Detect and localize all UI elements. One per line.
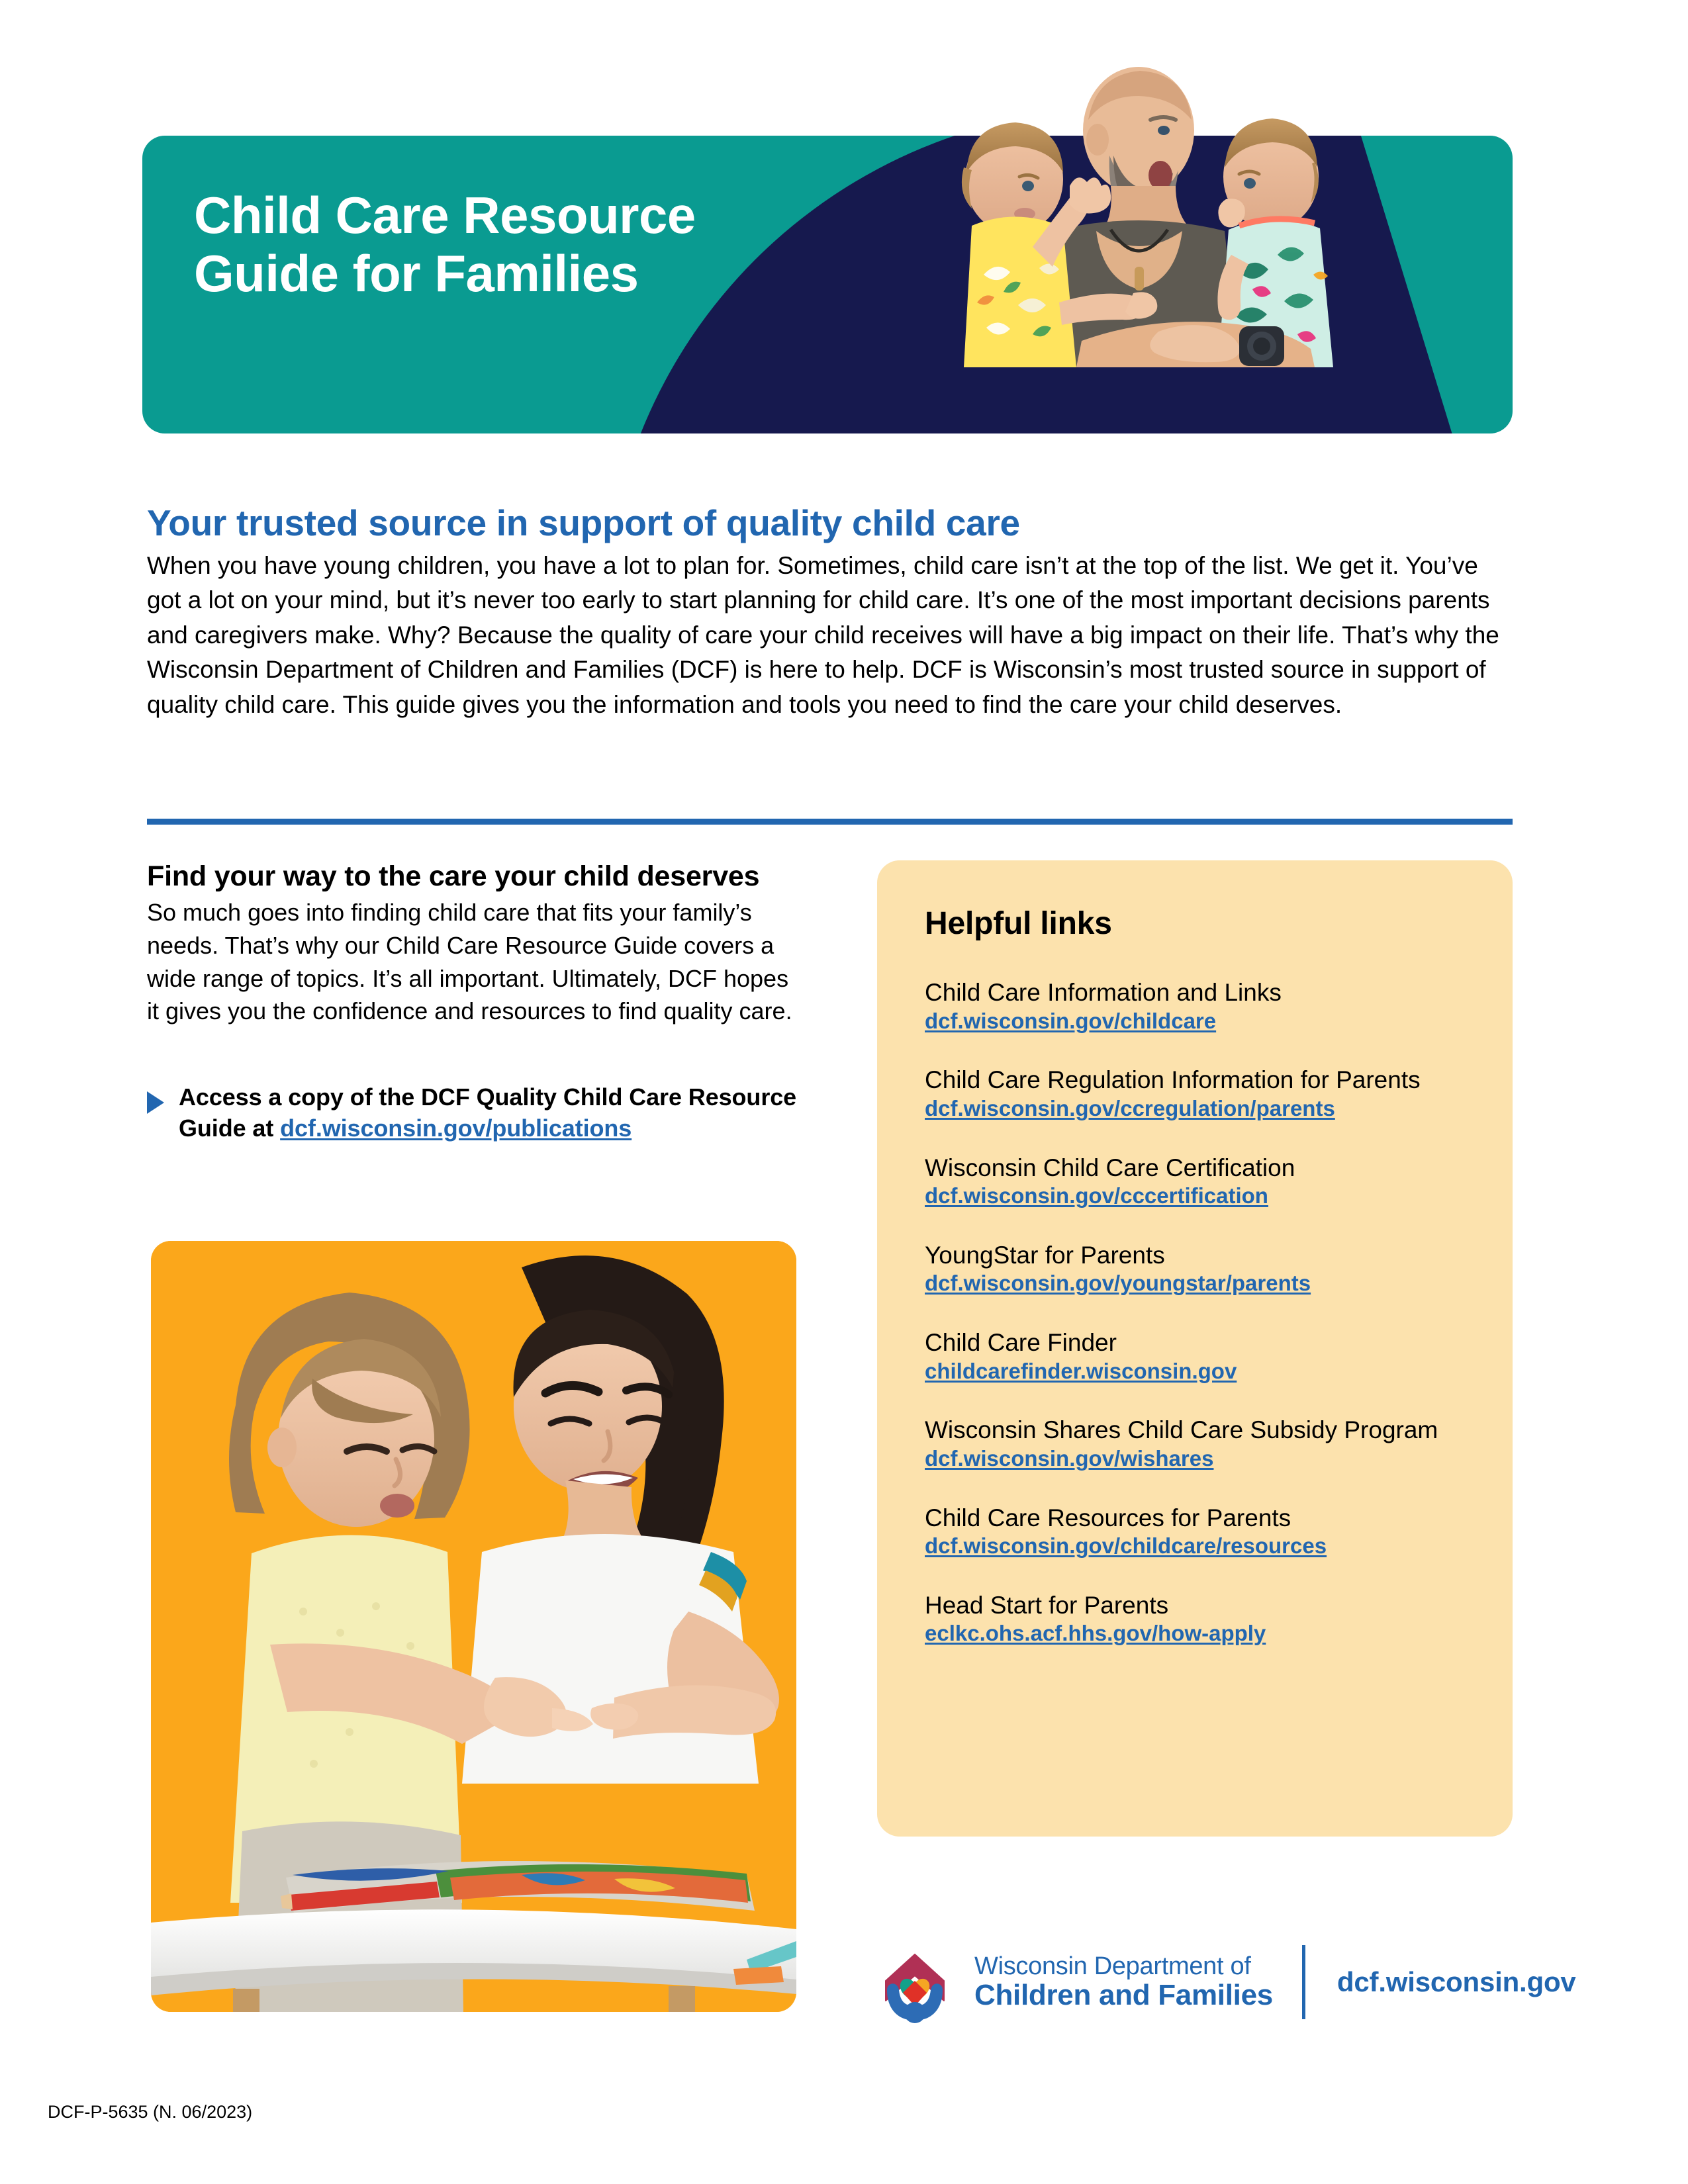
find-heading: Find your way to the care your child des… bbox=[147, 860, 809, 892]
helpful-link-url[interactable]: childcarefinder.wisconsin.gov bbox=[925, 1358, 1237, 1385]
helpful-link-item: YoungStar for Parentsdcf.wisconsin.gov/y… bbox=[925, 1241, 1494, 1297]
helpful-link-label: YoungStar for Parents bbox=[925, 1241, 1494, 1270]
helpful-links-list: Child Care Information and Linksdcf.wisc… bbox=[925, 978, 1494, 1647]
intro-heading: Your trusted source in support of qualit… bbox=[147, 503, 1517, 543]
helpful-link-item: Child Care Information and Linksdcf.wisc… bbox=[925, 978, 1494, 1034]
footer-website-url[interactable]: dcf.wisconsin.gov bbox=[1337, 1966, 1576, 1998]
helpful-link-url[interactable]: dcf.wisconsin.gov/wishares bbox=[925, 1445, 1213, 1472]
helpful-link-item: Wisconsin Shares Child Care Subsidy Prog… bbox=[925, 1416, 1494, 1471]
helpful-link-item: Wisconsin Child Care Certificationdcf.wi… bbox=[925, 1154, 1494, 1209]
helpful-link-label: Head Start for Parents bbox=[925, 1591, 1494, 1620]
section-divider bbox=[147, 819, 1513, 825]
document-id: DCF-P-5635 (N. 06/2023) bbox=[48, 2102, 252, 2122]
footer-separator bbox=[1302, 1945, 1305, 2019]
helpful-link-url[interactable]: dcf.wisconsin.gov/childcare/resources bbox=[925, 1533, 1327, 1559]
helpful-link-url[interactable]: dcf.wisconsin.gov/ccregulation/parents bbox=[925, 1095, 1335, 1122]
helpful-link-label: Child Care Information and Links bbox=[925, 978, 1494, 1007]
dcf-logo-line1: Wisconsin Department of bbox=[974, 1954, 1273, 1980]
dcf-logo-wordmark: Wisconsin Department of Children and Fam… bbox=[974, 1954, 1273, 2010]
dcf-logo-line2: Children and Families bbox=[974, 1980, 1273, 2011]
helpful-links-panel: Helpful links Child Care Information and… bbox=[877, 860, 1513, 1837]
document-page: Child Care Resource Guide for Families bbox=[0, 0, 1688, 2184]
helpful-link-label: Child Care Resources for Parents bbox=[925, 1504, 1494, 1533]
header-banner: Child Care Resource Guide for Families bbox=[142, 136, 1513, 433]
helpful-link-url[interactable]: dcf.wisconsin.gov/childcare bbox=[925, 1008, 1216, 1034]
helpful-link-url[interactable]: eclkc.ohs.acf.hhs.gov/how-apply bbox=[925, 1620, 1266, 1647]
mother-and-child-photo bbox=[151, 1241, 796, 2012]
helpful-link-item: Head Start for Parentseclkc.ohs.acf.hhs.… bbox=[925, 1591, 1494, 1647]
helpful-link-item: Child Care Resources for Parentsdcf.wisc… bbox=[925, 1504, 1494, 1559]
intro-section: Your trusted source in support of qualit… bbox=[147, 503, 1517, 722]
helpful-link-label: Wisconsin Shares Child Care Subsidy Prog… bbox=[925, 1416, 1494, 1445]
father-and-toddlers-photo bbox=[940, 56, 1350, 433]
find-your-way-section: Find your way to the care your child des… bbox=[147, 860, 809, 1028]
dcf-footer: Wisconsin Department of Children and Fam… bbox=[872, 1939, 1576, 2025]
helpful-link-label: Child Care Regulation Information for Pa… bbox=[925, 1066, 1494, 1095]
helpful-link-label: Child Care Finder bbox=[925, 1328, 1494, 1357]
triangle-bullet-icon bbox=[147, 1091, 164, 1117]
dcf-logo-icon bbox=[872, 1940, 957, 2025]
intro-paragraph: When you have young children, you have a… bbox=[147, 549, 1511, 723]
helpful-link-url[interactable]: dcf.wisconsin.gov/cccertification bbox=[925, 1183, 1268, 1209]
callout-text: Access a copy of the DCF Quality Child C… bbox=[179, 1082, 816, 1144]
helpful-link-item: Child Care Regulation Information for Pa… bbox=[925, 1066, 1494, 1121]
access-copy-callout: Access a copy of the DCF Quality Child C… bbox=[147, 1082, 816, 1144]
helpful-link-label: Wisconsin Child Care Certification bbox=[925, 1154, 1494, 1183]
helpful-link-item: Child Care Finderchildcarefinder.wiscons… bbox=[925, 1328, 1494, 1384]
find-paragraph: So much goes into finding child care tha… bbox=[147, 896, 802, 1028]
publications-link[interactable]: dcf.wisconsin.gov/publications bbox=[280, 1115, 632, 1142]
page-title: Child Care Resource Guide for Families bbox=[194, 186, 696, 302]
helpful-link-url[interactable]: dcf.wisconsin.gov/youngstar/parents bbox=[925, 1270, 1311, 1297]
helpful-links-title: Helpful links bbox=[925, 905, 1112, 942]
